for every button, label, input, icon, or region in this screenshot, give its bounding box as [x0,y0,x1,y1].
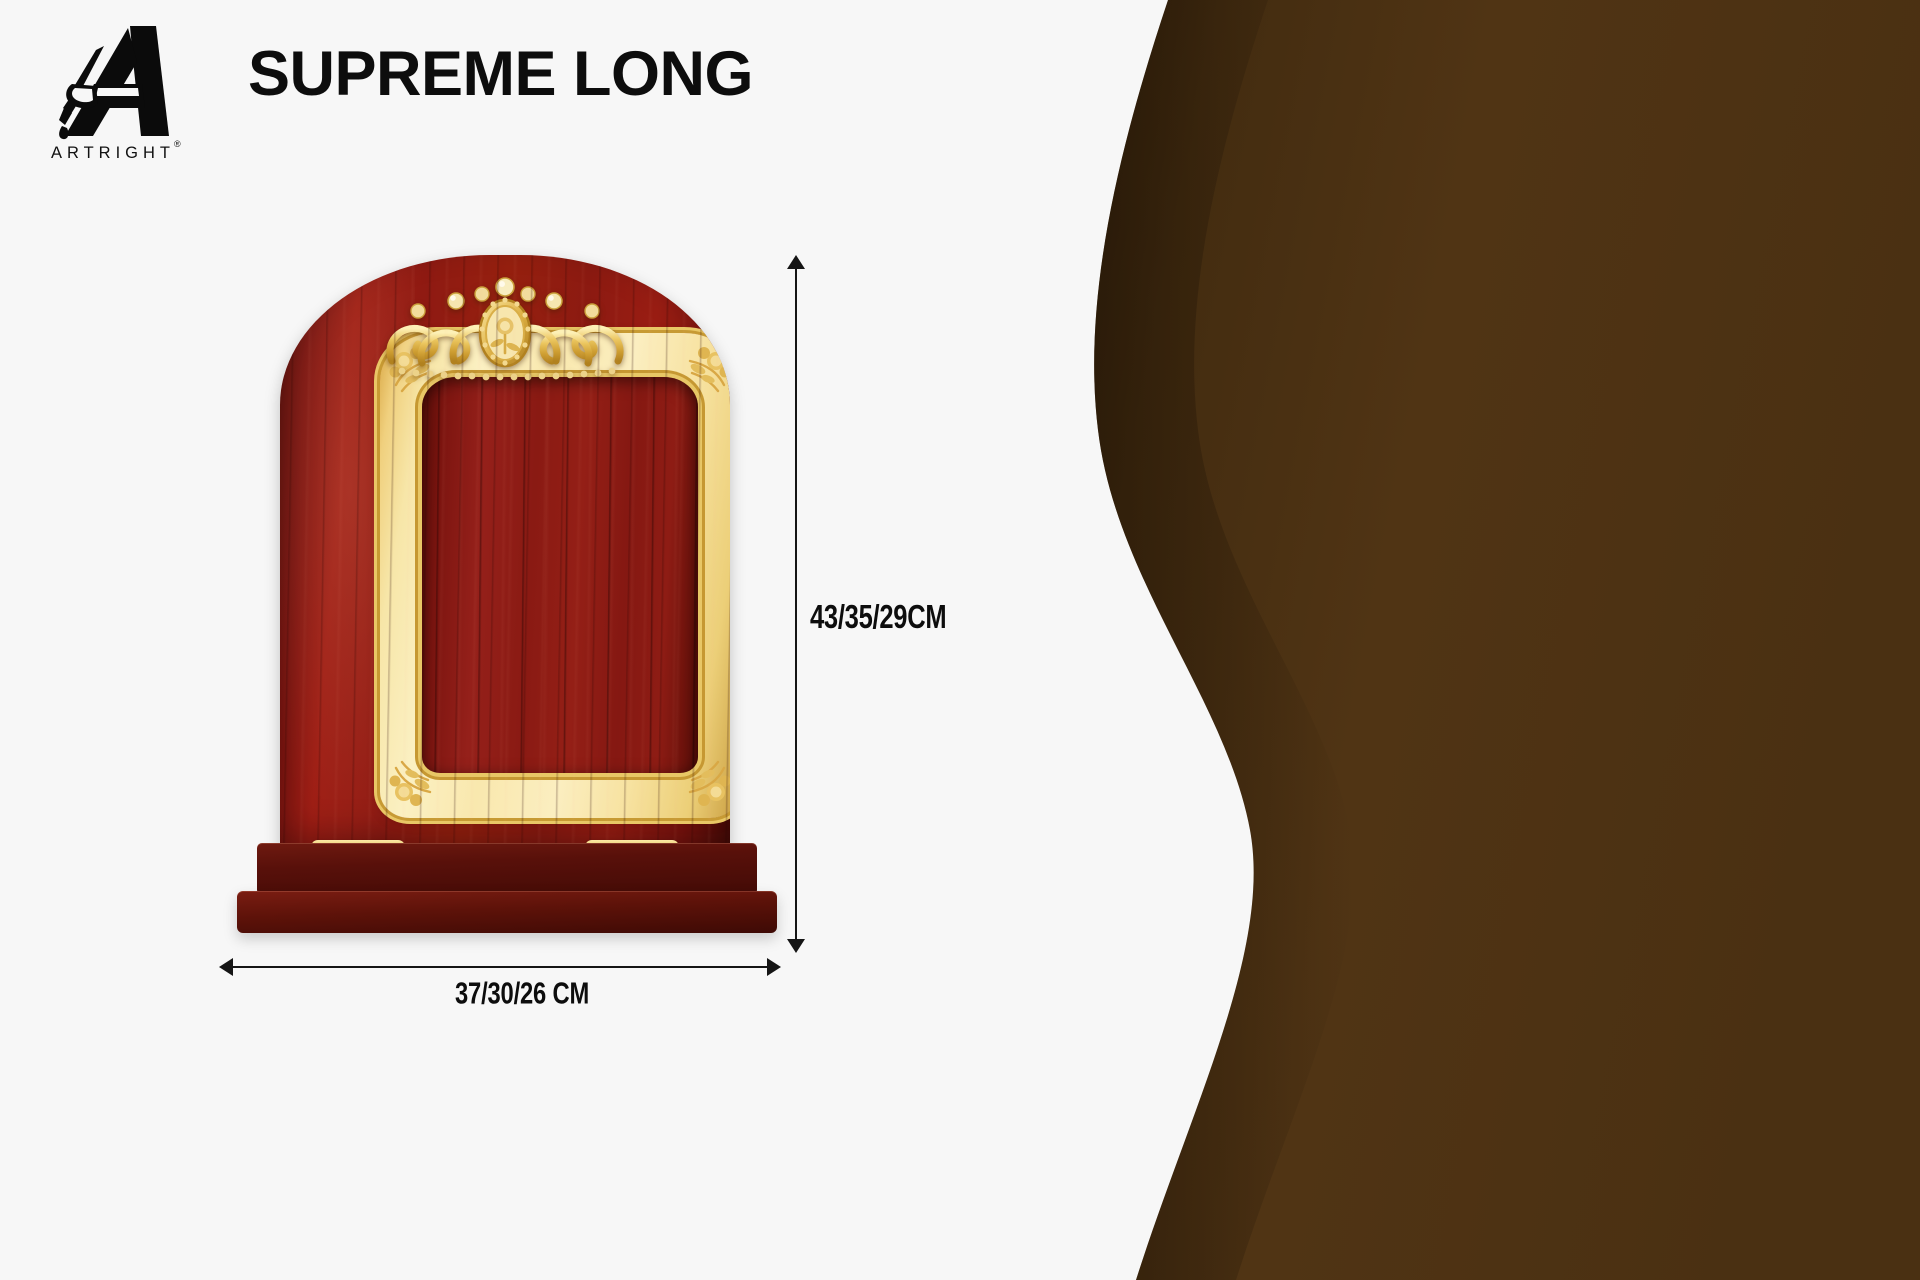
frame-wood-body [280,255,730,855]
registered-trademark-icon: ® [174,140,181,149]
arrow-head-down-icon [787,939,805,953]
product-image [225,255,785,955]
height-dimension-label: 43/35/29CM [810,600,946,638]
height-dimension-arrow [795,268,797,940]
base-lower-tier [237,891,777,933]
width-dimension-arrow [232,966,768,968]
frame-photo-window [422,377,698,773]
brand-logo: ARTRIGHT ® [38,22,188,182]
width-dimension-label: 37/30/26 CM [455,976,589,1011]
base-upper-tier [257,843,757,895]
arrow-head-up-icon [787,255,805,269]
arrow-head-right-icon [767,958,781,976]
brand-wordmark: ARTRIGHT [38,144,188,163]
features-list: 1 EXQUISITE FINISHING 2 R&D in ITALY 3 S… [1040,0,1920,1280]
arrow-head-left-icon [219,958,233,976]
infographic-canvas: ARTRIGHT ® SUPREME LONG [0,0,1920,1280]
frame-gold-molding [380,333,730,818]
page-title: SUPREME LONG [248,38,753,110]
artright-a-paintbrush-logo-icon [38,22,188,140]
